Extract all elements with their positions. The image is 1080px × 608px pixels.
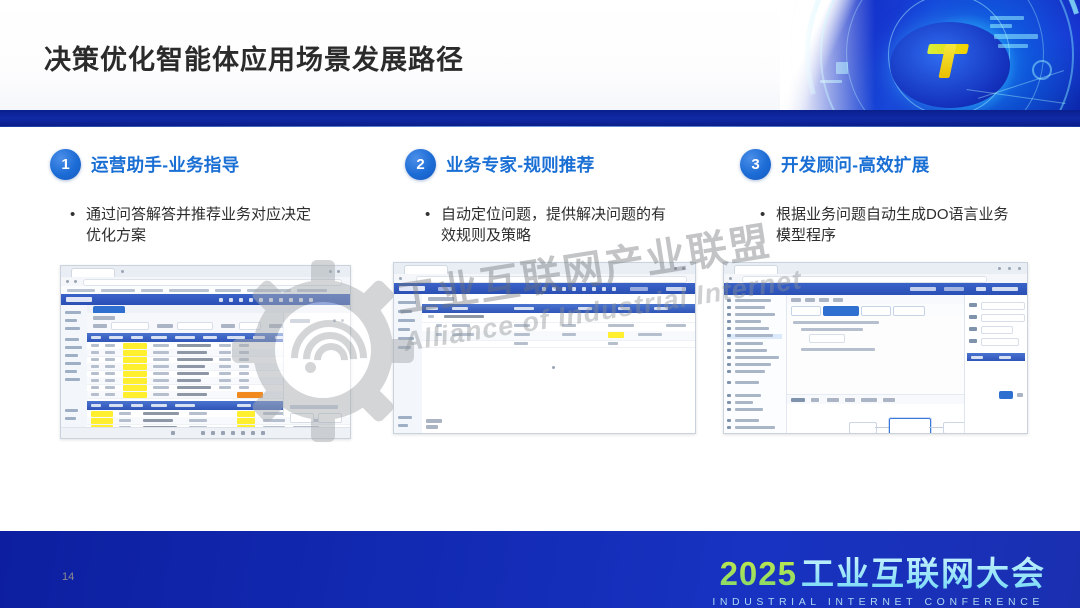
quick-reply-chip[interactable] xyxy=(318,413,342,423)
app-content xyxy=(422,294,695,433)
page-number: 14 xyxy=(62,571,74,583)
chat-assistant-panel[interactable] xyxy=(283,313,350,416)
flow-node-start[interactable] xyxy=(849,422,877,434)
slide: 决策优化智能体应用场景发展路径 1 运营助手-业务指导 • 通过问答解答并推荐业… xyxy=(0,0,1080,608)
column-3-bullet: • 根据业务问题自动生成DO语言业务模型程序 xyxy=(740,204,1070,246)
quick-reply-chip[interactable] xyxy=(290,413,314,423)
minimize-icon xyxy=(329,270,332,273)
logo-conference-en: INDUSTRIAL INTERNET CONFERENCE xyxy=(712,596,1046,608)
minimize-icon xyxy=(998,267,1001,270)
tab-rules[interactable] xyxy=(861,306,891,316)
app-content xyxy=(87,305,350,428)
decor-chip xyxy=(990,16,1024,20)
decor-chip xyxy=(994,34,1038,39)
properties-panel[interactable] xyxy=(964,295,1027,433)
property-field[interactable] xyxy=(981,302,1025,310)
filter-field[interactable] xyxy=(239,322,261,330)
column-1-bullet: • 通过问答解答并推荐业务对应决定优化方案 xyxy=(50,204,380,246)
browser-tab xyxy=(404,265,448,274)
property-table-header xyxy=(967,353,1025,361)
logo-conference-cn: 工业互联网大会 xyxy=(801,547,1046,595)
ide-body xyxy=(724,295,1027,433)
editor-area xyxy=(786,295,965,433)
confirm-button[interactable] xyxy=(999,391,1013,399)
url-field xyxy=(416,276,687,283)
model-tree-panel[interactable] xyxy=(724,295,787,433)
highlighted-cell xyxy=(237,392,263,398)
column-1-title: 运营助手-业务指导 xyxy=(91,152,240,177)
back-icon xyxy=(66,280,69,283)
column-3-header: 3 开发顾问-高效扩展 xyxy=(740,146,1070,182)
new-tab-icon xyxy=(121,270,124,273)
slide-footer: 2025 工业互联网大会 INDUSTRIAL INTERNET CONFERE… xyxy=(0,531,1080,608)
app-logo xyxy=(399,286,425,291)
column-2-bullet-text: 自动定位问题，提供解决问题的有效规则及策略 xyxy=(441,204,676,246)
back-icon xyxy=(399,277,402,280)
cursor-icon xyxy=(552,366,555,369)
app-sidebar[interactable] xyxy=(61,305,88,428)
column-1-header: 1 运营助手-业务指导 xyxy=(50,146,380,182)
operations-assistant-screenshot xyxy=(60,265,351,439)
step-number-badge: 1 xyxy=(50,149,81,180)
app-navbar xyxy=(394,283,695,294)
column-3-title: 开发顾问-高效扩展 xyxy=(781,152,930,177)
header-tech-graphic xyxy=(780,0,1080,112)
maximize-icon xyxy=(1008,267,1011,270)
tab-active[interactable] xyxy=(823,306,859,316)
minimize-icon xyxy=(674,267,677,270)
tab-preview[interactable] xyxy=(893,306,925,316)
column-3-bullet-text: 根据业务问题自动生成DO语言业务模型程序 xyxy=(776,204,1011,246)
column-1: 1 运营助手-业务指导 • 通过问答解答并推荐业务对应决定优化方案 xyxy=(50,146,380,246)
bullet-marker-icon: • xyxy=(760,204,776,246)
t-logo-icon xyxy=(928,38,972,82)
flow-canvas[interactable] xyxy=(787,404,965,433)
slide-header: 决策优化智能体应用场景发展路径 xyxy=(0,0,1080,127)
header-accent-bar xyxy=(0,110,1080,127)
close-icon xyxy=(337,270,340,273)
bullet-marker-icon: • xyxy=(425,204,441,246)
business-expert-screenshot xyxy=(393,262,696,434)
close-icon xyxy=(1018,267,1021,270)
browser-tab xyxy=(71,268,115,277)
decor-chip xyxy=(998,44,1028,48)
column-2-header: 2 业务专家-规则推荐 xyxy=(405,146,735,182)
step-number-badge: 2 xyxy=(405,149,436,180)
decor-chip xyxy=(990,24,1012,28)
column-3: 3 开发顾问-高效扩展 • 根据业务问题自动生成DO语言业务模型程序 xyxy=(740,146,1070,246)
column-2: 2 业务专家-规则推荐 • 自动定位问题，提供解决问题的有效规则及策略 xyxy=(405,146,735,246)
step-number-badge: 3 xyxy=(740,149,771,180)
page-title: 决策优化智能体应用场景发展路径 xyxy=(44,38,464,77)
column-2-title: 业务专家-规则推荐 xyxy=(446,152,595,177)
tab-model[interactable] xyxy=(791,306,821,316)
reload-icon xyxy=(74,280,77,283)
tree-item-selected[interactable] xyxy=(727,334,782,339)
app-navbar xyxy=(61,294,350,305)
bullet-marker-icon: • xyxy=(70,204,86,246)
flow-node-selected[interactable] xyxy=(889,418,931,434)
close-icon xyxy=(682,267,685,270)
development-advisor-screenshot xyxy=(723,262,1028,434)
code-node[interactable] xyxy=(809,334,845,343)
app-navbar xyxy=(724,283,1027,295)
logo-year: 2025 xyxy=(720,555,797,593)
app-sidebar[interactable] xyxy=(394,294,423,433)
app-logo xyxy=(66,297,92,302)
property-field[interactable] xyxy=(981,326,1013,334)
conference-logo: 2025 工业互联网大会 INDUSTRIAL INTERNET CONFERE… xyxy=(712,547,1046,608)
url-field xyxy=(83,279,342,286)
filter-field[interactable] xyxy=(177,322,213,330)
url-field xyxy=(742,276,987,283)
filter-field[interactable] xyxy=(111,322,149,330)
column-1-bullet-text: 通过问答解答并推荐业务对应决定优化方案 xyxy=(86,204,321,246)
header-accent-glow xyxy=(0,126,1080,127)
code-canvas[interactable] xyxy=(787,316,965,394)
table-header xyxy=(422,304,695,313)
back-icon xyxy=(729,277,732,280)
app-statusbar xyxy=(61,427,350,438)
property-field[interactable] xyxy=(981,338,1019,346)
property-field[interactable] xyxy=(981,314,1025,322)
column-2-bullet: • 自动定位问题，提供解决问题的有效规则及策略 xyxy=(405,204,735,246)
header-graphic-fade xyxy=(780,0,875,112)
browser-tab xyxy=(734,265,778,274)
